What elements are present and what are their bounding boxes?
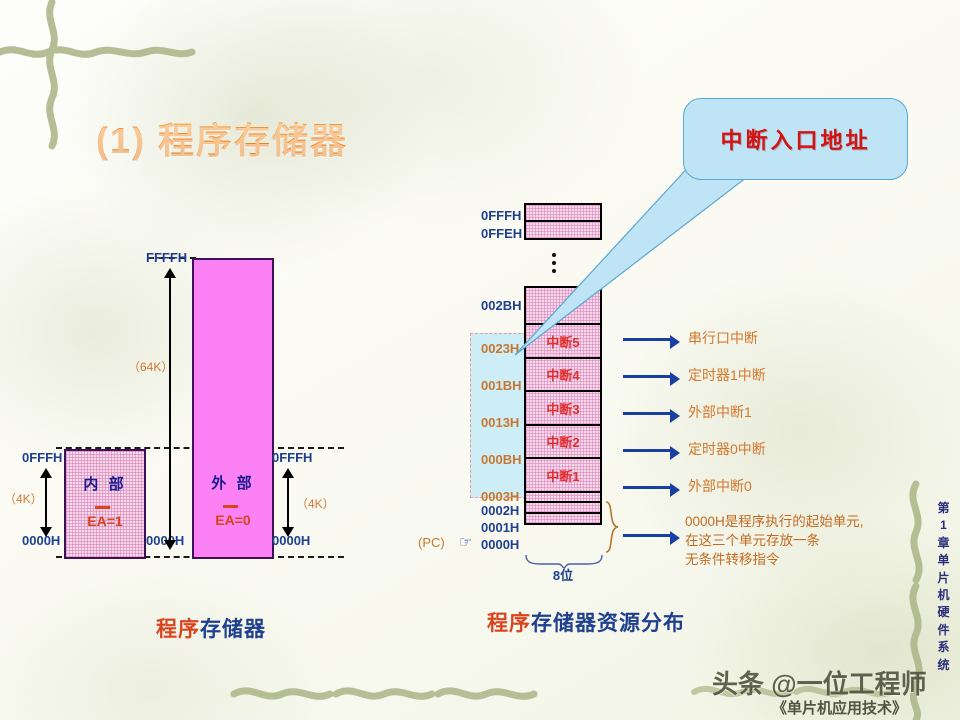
left-diagram-caption: 程序存储器: [156, 613, 266, 643]
addr-0002h: 0002H: [481, 503, 519, 518]
program-memory-column: [524, 205, 602, 240]
watermark-author: 头条 @一位工程师: [712, 664, 927, 701]
callout-text: 中断入口地址: [720, 123, 870, 155]
branch-decoration-bottom: [230, 672, 590, 716]
branch-decoration-topleft: [0, 0, 300, 220]
dashline-right-0fffh: [268, 447, 344, 449]
arrow-reset-note: [623, 534, 671, 537]
bit-width-label: 8位: [524, 565, 602, 584]
memory-cell-002bh: [524, 286, 602, 326]
page-title: (1) 程序存储器: [96, 112, 348, 164]
addr-002bh: 002BH: [481, 298, 521, 313]
addr-0fffh: 0FFFH: [481, 208, 521, 223]
pc-label: (PC): [418, 535, 445, 550]
arrow-4k-right-span: [287, 477, 289, 527]
label-size-64k: （64K）: [128, 358, 173, 375]
arrow-64k-span: [169, 277, 171, 540]
addr-0ffeh: 0FFEH: [481, 226, 522, 241]
internal-box-label: 内 部: [83, 476, 126, 493]
label-int2-source: 定时器0中断: [688, 439, 766, 459]
reset-note-text: 0000H是程序执行的起始单元, 在这三个单元存放一条 无条件转移指令: [685, 512, 864, 569]
internal-memory-box: 内 部 EA=1: [64, 449, 146, 559]
label-int3-source: 外部中断1: [688, 402, 752, 422]
external-memory-box: 外 部 EA=0: [192, 258, 274, 559]
pointing-hand-icon: ☞: [459, 533, 472, 551]
memory-cell-0000h: [524, 512, 602, 525]
program-memory-column-lower: 中断5 中断4 中断3 中断2 中断1: [524, 288, 602, 525]
arrow-4k-left-span: [45, 477, 47, 527]
label-int1-source: 外部中断0: [688, 476, 752, 496]
left-caption-part2: 存储器: [200, 618, 266, 641]
reset-cells-brace: [604, 500, 622, 554]
memory-cell-int4: 中断4: [524, 357, 602, 393]
dashline-right-0000h: [268, 556, 344, 558]
internal-box-mode: EA=1: [87, 513, 122, 529]
arrow-64k-head-up: [164, 268, 176, 278]
watermark-booktitle: 《单片机应用技术》: [772, 697, 907, 718]
arrow-int4: [623, 375, 671, 378]
arrow-4k-left-head-down: [40, 527, 52, 537]
label-size-4k-right: （4K）: [296, 495, 335, 512]
addr-0013h: 0013H: [481, 415, 519, 430]
memory-cell-0ffeh: [524, 220, 602, 240]
addr-0003h: 0003H: [481, 489, 519, 504]
left-caption-part1: 程序: [156, 618, 200, 641]
side-chapter-label: 第1章 单片机硬件系统: [936, 500, 952, 674]
ea-overline-internal: [95, 506, 110, 509]
external-box-mode: EA=0: [215, 512, 250, 528]
slide-canvas: (1) 程序存储器 内 部 EA=1 外 部 EA=0 FFFFH 0FFFH: [0, 0, 960, 720]
arrow-int3: [623, 412, 671, 415]
addr-000bh: 000BH: [481, 452, 521, 467]
memory-cell-int5: 中断5: [524, 323, 602, 359]
arrow-4k-right-head-up: [282, 468, 294, 478]
external-box-label: 外 部: [211, 475, 254, 492]
right-caption-part1: 程序: [487, 612, 531, 635]
addr-0000h: 0000H: [481, 537, 519, 552]
label-int5-source: 串行口中断: [688, 328, 758, 348]
label-size-4k-left: （4K）: [4, 490, 43, 507]
ea-overline-external: [223, 505, 238, 508]
arrow-int2: [623, 449, 671, 452]
addr-001bh: 001BH: [481, 378, 521, 393]
right-caption-part2: 存储器资源分布: [531, 612, 685, 635]
vertical-ellipsis: [551, 249, 557, 277]
memory-cell-int2: 中断2: [524, 424, 602, 460]
memory-cell-int1: 中断1: [524, 457, 602, 493]
label-ffffh: FFFFH: [146, 250, 187, 265]
memory-cell-int3: 中断3: [524, 390, 602, 426]
callout-interrupt-entry-address: 中断入口地址: [683, 98, 908, 180]
arrow-4k-right-head-down: [282, 527, 294, 537]
arrow-int1: [623, 486, 671, 489]
arrow-4k-left-head-up: [40, 468, 52, 478]
label-int4-source: 定时器1中断: [688, 365, 766, 385]
addr-0001h: 0001H: [481, 520, 519, 535]
right-diagram-caption: 程序存储器资源分布: [487, 607, 685, 637]
label-left-0fffh: 0FFFH: [22, 450, 62, 465]
label-right-0fffh: 0FFFH: [272, 450, 312, 465]
arrow-int5: [623, 338, 671, 341]
arrow-64k-head-down: [164, 540, 176, 550]
addr-0023h: 0023H: [481, 341, 519, 356]
